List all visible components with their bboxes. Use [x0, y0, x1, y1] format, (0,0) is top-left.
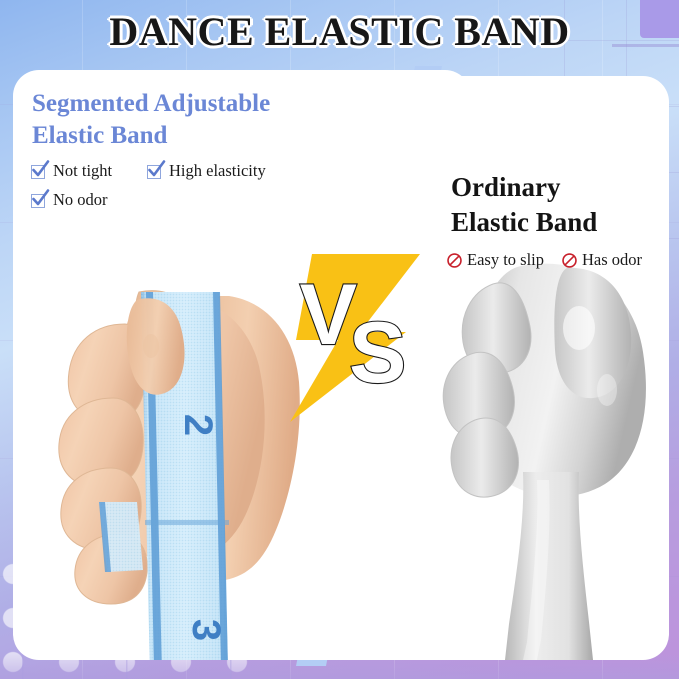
checkbox-checked-icon	[147, 163, 164, 180]
checkbox-checked-icon	[31, 192, 48, 209]
feature-label: No odor	[53, 190, 108, 210]
drawback-label: Easy to slip	[467, 250, 544, 270]
svg-text:3: 3	[184, 619, 228, 641]
drawback-label: Has odor	[582, 250, 642, 270]
feature-item-not-tight: Not tight	[31, 161, 112, 181]
vs-letter-s: S	[349, 304, 402, 403]
vs-badge: VS	[268, 236, 438, 426]
drawback-item-easy-to-slip: Easy to slip	[446, 250, 544, 270]
feature-label: Not tight	[53, 161, 112, 181]
right-heading-line-2: Elastic Band	[451, 205, 679, 240]
prohibition-icon	[561, 252, 578, 269]
drawback-item-has-odor: Has odor	[561, 250, 642, 270]
vs-letter-v: V	[300, 266, 353, 365]
left-heading-line-2: Elastic Band	[32, 120, 432, 152]
feature-item-no-odor: No odor	[31, 190, 108, 210]
checkbox-checked-icon	[31, 163, 48, 180]
product-comparison-image: DANCE ELASTIC BAND	[0, 0, 679, 679]
feature-label: High elasticity	[169, 161, 266, 181]
page-title: DANCE ELASTIC BAND	[0, 8, 679, 55]
vs-label: VS	[268, 236, 438, 426]
prohibition-icon	[446, 252, 463, 269]
right-product-photo	[397, 250, 677, 660]
svg-text:2: 2	[176, 414, 220, 436]
left-panel-heading: Segmented Adjustable Elastic Band	[32, 88, 432, 152]
right-heading-line-1: Ordinary	[451, 170, 679, 205]
left-heading-line-1: Segmented Adjustable	[32, 88, 432, 120]
feature-item-high-elasticity: High elasticity	[147, 161, 266, 181]
right-panel-heading: Ordinary Elastic Band	[451, 170, 679, 240]
